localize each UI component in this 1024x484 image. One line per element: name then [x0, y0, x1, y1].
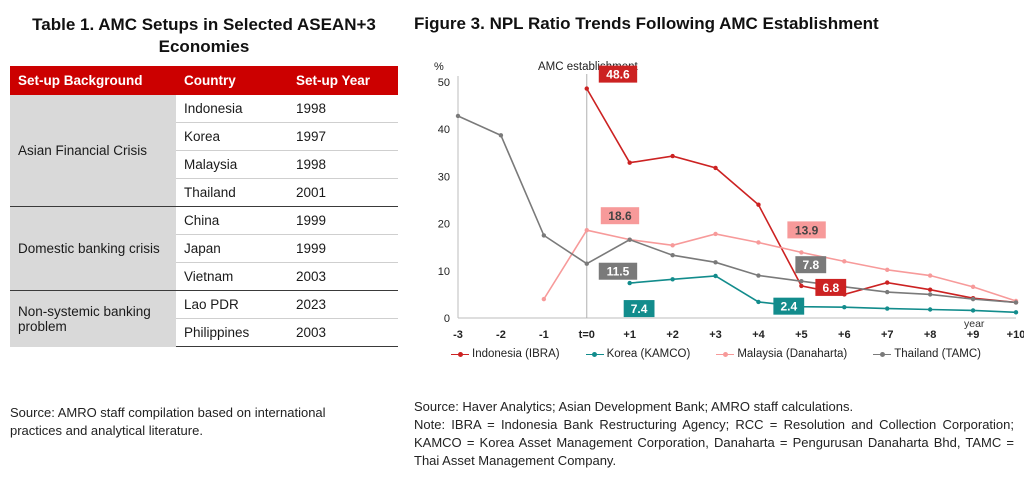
svg-text:t=0: t=0: [579, 329, 595, 341]
chart-legend: Indonesia (IBRA) Korea (KAMCO) Malaysia …: [408, 348, 1024, 360]
column-header-setup-background: Set-up Background: [10, 66, 176, 95]
cell-country: Philippines: [176, 319, 288, 347]
legend-swatch-thailand-icon: [873, 350, 891, 359]
cell-country: Japan: [176, 235, 288, 263]
cell-country: Lao PDR: [176, 291, 288, 319]
figure-source-note: Source: Haver Analytics; Asian Developme…: [414, 398, 1014, 470]
legend-item-korea[interactable]: Korea (KAMCO): [586, 348, 691, 360]
figure-source-line: Source: Haver Analytics; Asian Developme…: [414, 398, 1014, 416]
cell-country: Thailand: [176, 179, 288, 207]
group-label-domestic-banking-crisis: Domestic banking crisis: [10, 207, 176, 291]
svg-text:+9: +9: [967, 329, 980, 341]
svg-text:6.8: 6.8: [822, 281, 839, 295]
legend-label-indonesia: Indonesia (IBRA): [472, 348, 560, 360]
cell-year: 2023: [288, 291, 398, 319]
legend-item-thailand[interactable]: Thailand (TAMC): [873, 348, 981, 360]
svg-text:+1: +1: [623, 329, 636, 341]
legend-swatch-malaysia-icon: [716, 350, 734, 359]
svg-text:-3: -3: [453, 329, 463, 341]
table-source-note: Source: AMRO staff compilation based on …: [10, 404, 380, 440]
table-row: Asian Financial Crisis Indonesia 1998: [10, 95, 398, 123]
npl-line-chart: % AMC establishment year 01020304050-3-2…: [408, 56, 1024, 356]
svg-text:40: 40: [438, 124, 450, 136]
svg-text:11.5: 11.5: [607, 265, 630, 279]
cell-country: Indonesia: [176, 95, 288, 123]
svg-text:-2: -2: [496, 329, 506, 341]
svg-text:7.8: 7.8: [802, 258, 819, 272]
svg-text:-1: -1: [539, 329, 549, 341]
group-label-asian-financial-crisis: Asian Financial Crisis: [10, 95, 176, 207]
column-header-setup-year: Set-up Year: [288, 66, 398, 95]
cell-year: 2001: [288, 179, 398, 207]
legend-swatch-indonesia-icon: [451, 350, 469, 359]
svg-text:+8: +8: [924, 329, 937, 341]
svg-text:+10: +10: [1007, 329, 1024, 341]
cell-country: China: [176, 207, 288, 235]
svg-text:20: 20: [438, 219, 450, 231]
cell-year: 1999: [288, 207, 398, 235]
cell-country: Korea: [176, 123, 288, 151]
svg-text:+5: +5: [795, 329, 808, 341]
cell-year: 1998: [288, 95, 398, 123]
svg-text:10: 10: [438, 266, 450, 278]
figure-panel: Figure 3. NPL Ratio Trends Following AMC…: [408, 0, 1024, 484]
amc-setups-table: Set-up Background Country Set-up Year As…: [10, 66, 398, 347]
legend-item-malaysia[interactable]: Malaysia (Danaharta): [716, 348, 847, 360]
svg-text:50: 50: [438, 77, 450, 89]
legend-swatch-korea-icon: [586, 350, 604, 359]
svg-text:+6: +6: [838, 329, 851, 341]
legend-label-korea: Korea (KAMCO): [607, 348, 691, 360]
svg-text:13.9: 13.9: [795, 223, 819, 237]
svg-text:2.4: 2.4: [780, 300, 797, 314]
svg-text:+4: +4: [752, 329, 765, 341]
figure-page: Table 1. AMC Setups in Selected ASEAN+3 …: [0, 0, 1024, 484]
table-row: Domestic banking crisis China 1999: [10, 207, 398, 235]
svg-text:7.4: 7.4: [631, 302, 648, 316]
table-row: Non-systemic banking problem Lao PDR 202…: [10, 291, 398, 319]
svg-text:+3: +3: [709, 329, 722, 341]
cell-year: 2003: [288, 263, 398, 291]
cell-year: 1998: [288, 151, 398, 179]
figure-title: Figure 3. NPL Ratio Trends Following AMC…: [414, 14, 1020, 34]
cell-year: 1999: [288, 235, 398, 263]
cell-year: 1997: [288, 123, 398, 151]
table-header-row: Set-up Background Country Set-up Year: [10, 66, 398, 95]
svg-text:48.6: 48.6: [606, 68, 630, 82]
svg-text:+7: +7: [881, 329, 894, 341]
svg-text:+2: +2: [666, 329, 679, 341]
cell-country: Vietnam: [176, 263, 288, 291]
table-panel: Table 1. AMC Setups in Selected ASEAN+3 …: [0, 0, 408, 484]
table-body: Asian Financial Crisis Indonesia 1998 Ko…: [10, 95, 398, 347]
cell-country: Malaysia: [176, 151, 288, 179]
legend-label-malaysia: Malaysia (Danaharta): [737, 348, 847, 360]
svg-text:18.6: 18.6: [608, 209, 632, 223]
column-header-country: Country: [176, 66, 288, 95]
figure-note-line: Note: IBRA = Indonesia Bank Restructurin…: [414, 416, 1014, 470]
cell-year: 2003: [288, 319, 398, 347]
table-title: Table 1. AMC Setups in Selected ASEAN+3 …: [8, 14, 400, 58]
svg-text:30: 30: [438, 171, 450, 183]
svg-text:0: 0: [444, 313, 450, 325]
group-label-non-systemic-banking-problem: Non-systemic banking problem: [10, 291, 176, 347]
chart-canvas: 01020304050-3-2-1t=0+1+2+3+4+5+6+7+8+9+1…: [408, 56, 1024, 356]
legend-label-thailand: Thailand (TAMC): [894, 348, 981, 360]
legend-item-indonesia[interactable]: Indonesia (IBRA): [451, 348, 560, 360]
